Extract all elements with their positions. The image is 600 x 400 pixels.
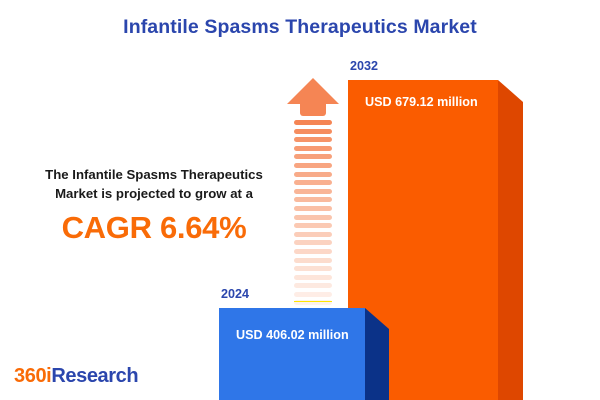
arrow-fade-bar: [294, 146, 332, 151]
arrow-fade-bar: [294, 232, 332, 237]
bar-2024: USD 406.02 million: [219, 308, 389, 400]
arrow-fade-bars: [294, 120, 332, 335]
arrow-fade-bar: [294, 206, 332, 211]
bar-2024-side: [365, 308, 389, 400]
arrow-fade-bar: [294, 180, 332, 185]
page-title: Infantile Spasms Therapeutics Market: [0, 16, 600, 39]
brand-logo[interactable]: 360iResearch: [14, 365, 138, 388]
bar-2024-value: USD 406.02 million: [236, 328, 349, 342]
arrow-neck-shape: [300, 104, 326, 116]
statement-line-1: The Infantile Spasms Therapeutics: [14, 165, 294, 184]
brand-logo-research: Research: [51, 365, 138, 387]
bar-label-2032: 2032: [350, 59, 378, 73]
arrow-fade-bar: [294, 275, 332, 280]
statement-line-2: Market is projected to grow at a: [14, 184, 294, 203]
brand-logo-360i: 360i: [14, 365, 51, 387]
arrow-fade-bar: [294, 223, 332, 228]
arrow-fade-bar: [294, 240, 332, 245]
arrow-fade-bar: [294, 120, 332, 125]
arrow-fade-bar: [294, 283, 332, 288]
bar-label-2024: 2024: [221, 287, 249, 301]
arrow-fade-bar: [294, 249, 332, 254]
bar-2024-face: [219, 308, 365, 400]
arrow-fade-bar: [294, 197, 332, 202]
arrow-fade-bar: [294, 292, 332, 297]
arrow-fade-bar: [294, 258, 332, 263]
arrow-head-icon: [287, 78, 339, 104]
arrow-fade-bar: [294, 154, 332, 159]
arrow-fade-bar: [294, 137, 332, 142]
bar-2032-side: [498, 80, 523, 400]
bar-2032-value: USD 679.12 million: [365, 95, 478, 109]
arrow-fade-bar: [294, 129, 332, 134]
statement-block: The Infantile Spasms Therapeutics Market…: [14, 165, 294, 246]
growth-arrow-icon: [287, 78, 339, 293]
cagr-value: CAGR 6.64%: [14, 210, 294, 246]
arrow-fade-bar: [294, 172, 332, 177]
arrow-highlight-line: [294, 301, 332, 303]
arrow-fade-bar: [294, 163, 332, 168]
arrow-fade-bar: [294, 266, 332, 271]
infographic-root: Infantile Spasms Therapeutics Market The…: [0, 0, 600, 400]
arrow-fade-bar: [294, 215, 332, 220]
arrow-fade-bar: [294, 189, 332, 194]
